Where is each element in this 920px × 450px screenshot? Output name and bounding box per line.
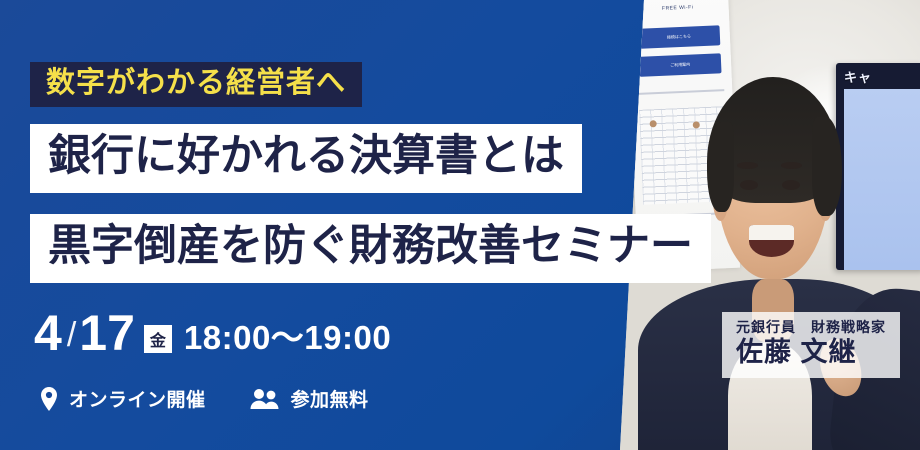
meta-item-fee: 参加無料 xyxy=(250,385,369,412)
subject-hair-right xyxy=(812,117,842,216)
subject-eye-right xyxy=(782,180,800,190)
location-pin-icon xyxy=(40,387,58,411)
subject-eye-left xyxy=(740,180,758,190)
event-month: 4 xyxy=(34,310,62,356)
subject-eyebrow-right xyxy=(781,162,802,169)
subject-mouth xyxy=(749,225,794,257)
eyebrow-banner: 数字がわかる経営者へ xyxy=(30,62,362,107)
people-icon xyxy=(250,388,280,410)
subject-hair-left xyxy=(707,122,734,212)
headline-line-2: 黒字倒産を防ぐ財務改善セミナー xyxy=(30,214,711,283)
meta-label-venue: オンライン開催 xyxy=(69,385,206,412)
speaker-title: 元銀行員 財務戦略家 xyxy=(736,320,886,335)
event-time: 18:00〜19:00 xyxy=(184,321,391,354)
event-day: 17 xyxy=(79,310,135,356)
headline-line-1: 銀行に好かれる決算書とは xyxy=(30,124,582,193)
speaker-name-plate: 元銀行員 財務戦略家 佐藤 文継 xyxy=(722,312,900,378)
event-meta-row: オンライン開催 参加無料 xyxy=(40,385,369,412)
speaker-name: 佐藤 文継 xyxy=(736,337,886,368)
meta-item-venue: オンライン開催 xyxy=(40,385,206,412)
date-time-row: 4 / 17 金 18:00〜19:00 xyxy=(34,310,391,356)
date-separator: / xyxy=(67,318,76,352)
meta-label-fee: 参加無料 xyxy=(291,385,369,412)
seminar-banner: FREE Wi-Fi 接続はこちら ご利用案内 キャ xyxy=(0,0,920,450)
subject-teeth xyxy=(749,225,794,240)
event-day-of-week-badge: 金 xyxy=(144,325,172,353)
